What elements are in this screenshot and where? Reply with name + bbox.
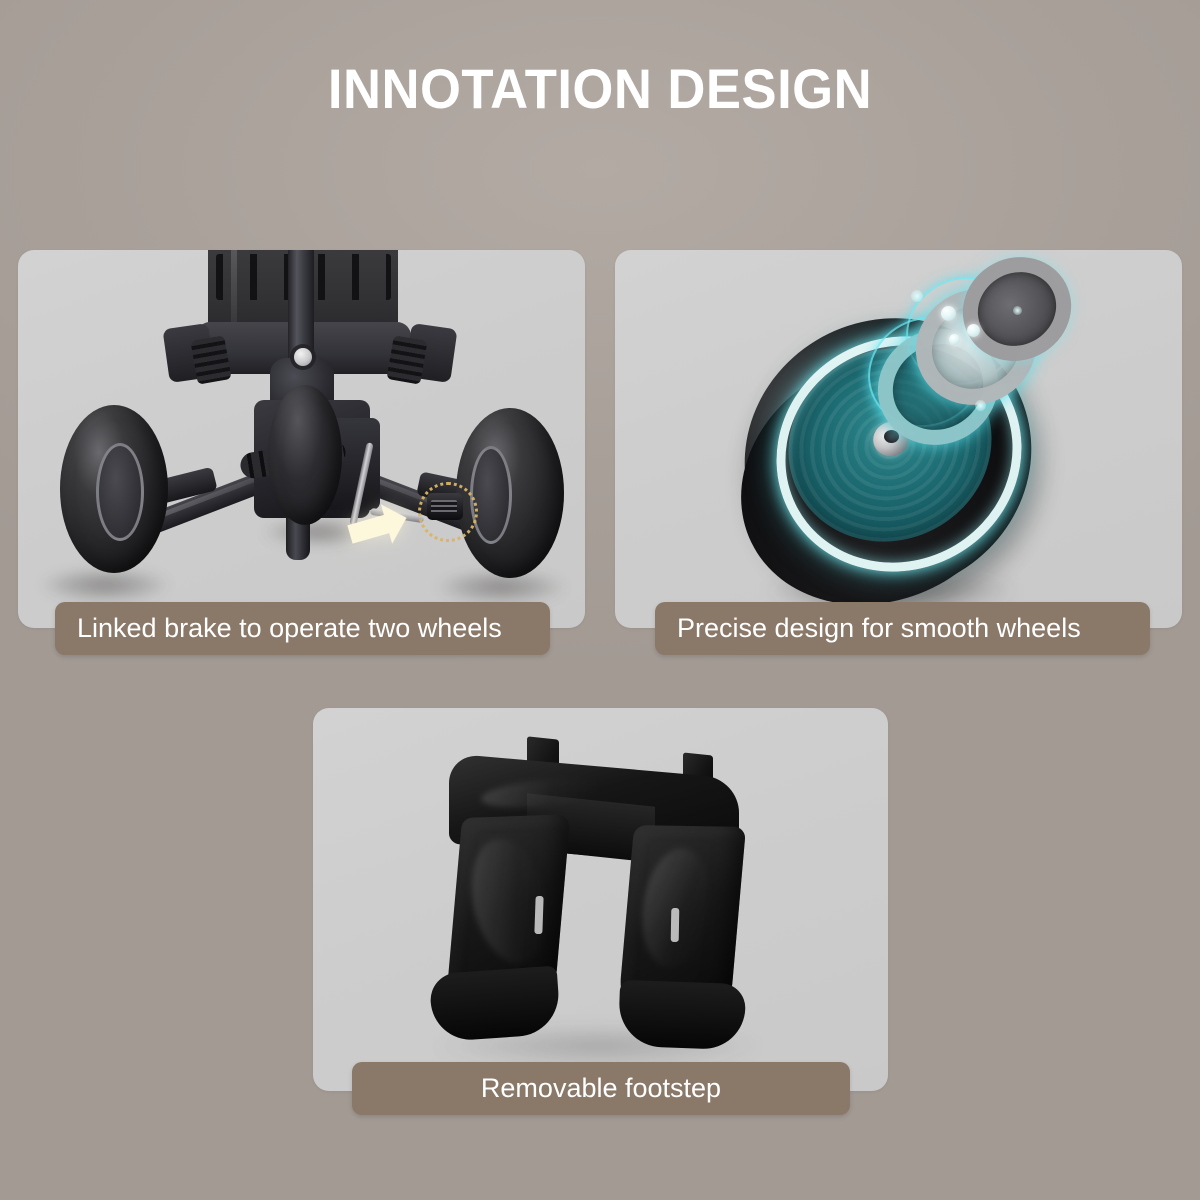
feature-panel-removable-footstep [313,708,888,1091]
caption-linked-brake: Linked brake to operate two wheels [55,602,550,655]
linked-brake-image [18,250,585,628]
stroller-release-button [294,348,312,366]
bearing-ball-2 [967,324,980,337]
feature-panel-precise-wheel [615,250,1182,628]
caption-precise-wheel: Precise design for smooth wheels [655,602,1150,655]
infographic-page: INNOTATION DESIGN [0,0,1200,1200]
removable-footstep-image [313,708,888,1091]
page-title: INNOTATION DESIGN [36,58,1164,120]
stroller-wheel-center [268,385,342,525]
precise-wheel-image [615,250,1182,628]
highlight-circle-icon [418,482,478,542]
wheel-hubcap-left [96,443,144,541]
wheel-hubcap-right [470,446,512,544]
bearing-ball-1 [941,306,956,321]
glow-spark-1 [911,290,923,302]
glow-spark-2 [1013,306,1022,315]
stroller-strap-left [190,335,231,384]
caption-removable-footstep: Removable footstep [352,1062,850,1115]
footstep-pad-right [618,980,746,1050]
glow-spark-3 [975,400,986,411]
wheel-shadow-left [40,568,170,602]
feature-panel-linked-brake [18,250,585,628]
bearing-ball-3 [949,334,960,345]
